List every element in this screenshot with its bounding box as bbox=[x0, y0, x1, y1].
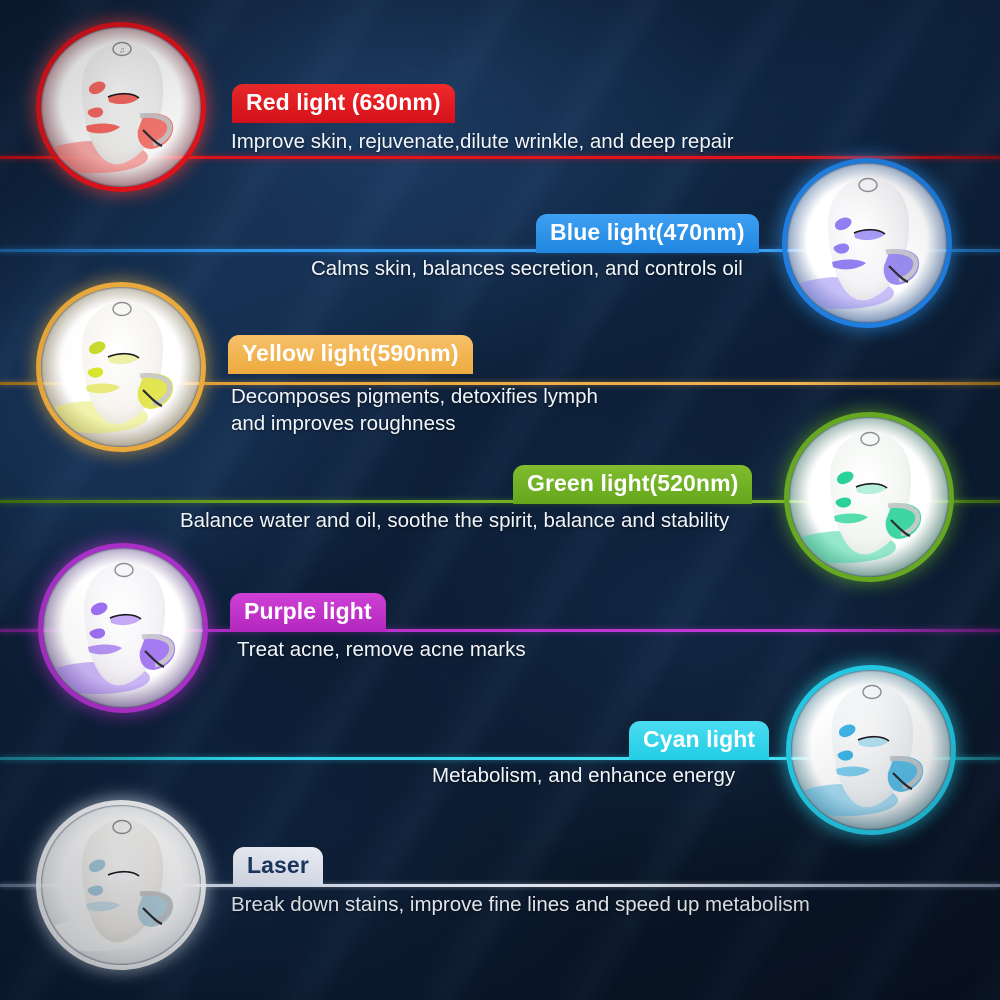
label-purple: Purple light bbox=[230, 593, 386, 632]
led-mask-red: ♫ bbox=[36, 22, 206, 192]
led-mask-blue bbox=[782, 158, 952, 328]
description-green: Balance water and oil, soothe the spirit… bbox=[180, 507, 729, 534]
label-yellow: Yellow light(590nm) bbox=[228, 335, 473, 374]
mask-artwork-green bbox=[784, 412, 954, 582]
mask-artwork-yellow bbox=[36, 282, 206, 452]
description-laser: Break down stains, improve fine lines an… bbox=[231, 891, 810, 918]
led-mask-laser bbox=[36, 800, 206, 970]
description-red: Improve skin, rejuvenate,dilute wrinkle,… bbox=[231, 128, 734, 155]
mask-artwork-laser bbox=[36, 800, 206, 970]
led-mask-green bbox=[784, 412, 954, 582]
mask-artwork-blue bbox=[782, 158, 952, 328]
mask-artwork-cyan bbox=[786, 665, 956, 835]
svg-text:♫: ♫ bbox=[119, 46, 125, 55]
label-cyan: Cyan light bbox=[629, 721, 769, 760]
description-cyan: Metabolism, and enhance energy bbox=[432, 762, 735, 789]
label-laser: Laser bbox=[233, 847, 323, 886]
description-purple: Treat acne, remove acne marks bbox=[237, 636, 526, 663]
description-yellow: Decomposes pigments, detoxifies lymph an… bbox=[231, 383, 598, 437]
infographic-canvas: ♫ Red light (630nm) Improve skin, rejuve… bbox=[0, 0, 1000, 1000]
mask-artwork-red: ♫ bbox=[36, 22, 206, 192]
mask-artwork-purple bbox=[38, 543, 208, 713]
label-red: Red light (630nm) bbox=[232, 84, 455, 123]
led-mask-cyan bbox=[786, 665, 956, 835]
label-blue: Blue light(470nm) bbox=[536, 214, 759, 253]
led-mask-purple bbox=[38, 543, 208, 713]
label-green: Green light(520nm) bbox=[513, 465, 752, 504]
led-mask-yellow bbox=[36, 282, 206, 452]
description-blue: Calms skin, balances secretion, and cont… bbox=[311, 255, 743, 282]
